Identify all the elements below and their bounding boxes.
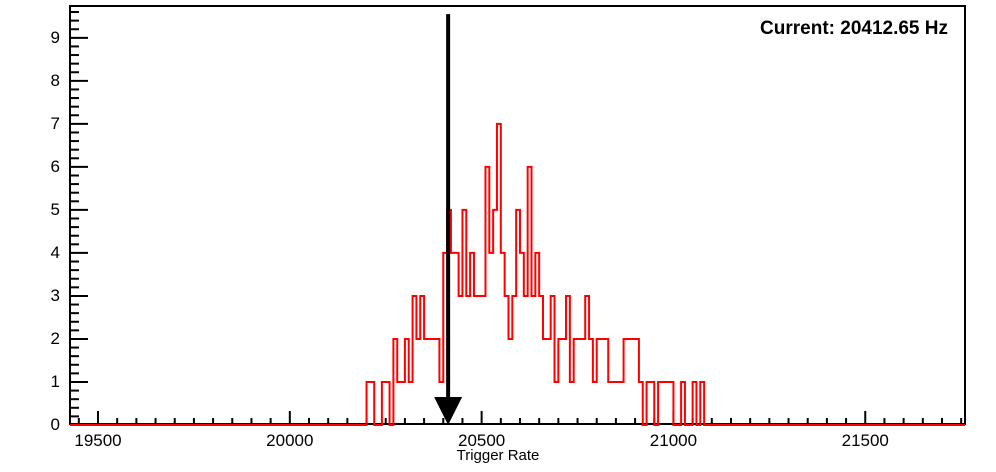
y-tick-label: 6 <box>34 157 60 177</box>
current-rate-marker-arrow <box>434 397 462 425</box>
y-tick-label: 5 <box>34 200 60 220</box>
histogram-outline <box>70 124 965 425</box>
y-tick-label: 7 <box>34 114 60 134</box>
y-tick-label: 2 <box>34 329 60 349</box>
y-tick-label: 8 <box>34 71 60 91</box>
x-axis-ticks <box>79 411 961 425</box>
y-axis-ticks <box>70 12 88 425</box>
y-tick-label: 4 <box>34 243 60 263</box>
y-tick-label: 3 <box>34 286 60 306</box>
trigger-rate-histogram-panel: Current: 20412.65 Hz 0123456789 19500200… <box>0 0 996 472</box>
x-axis-title: Trigger Rate <box>0 447 996 464</box>
y-tick-label: 1 <box>34 372 60 392</box>
plot-canvas <box>0 0 996 472</box>
y-tick-label: 9 <box>34 28 60 48</box>
current-rate-readout: Current: 20412.65 Hz <box>760 18 948 40</box>
